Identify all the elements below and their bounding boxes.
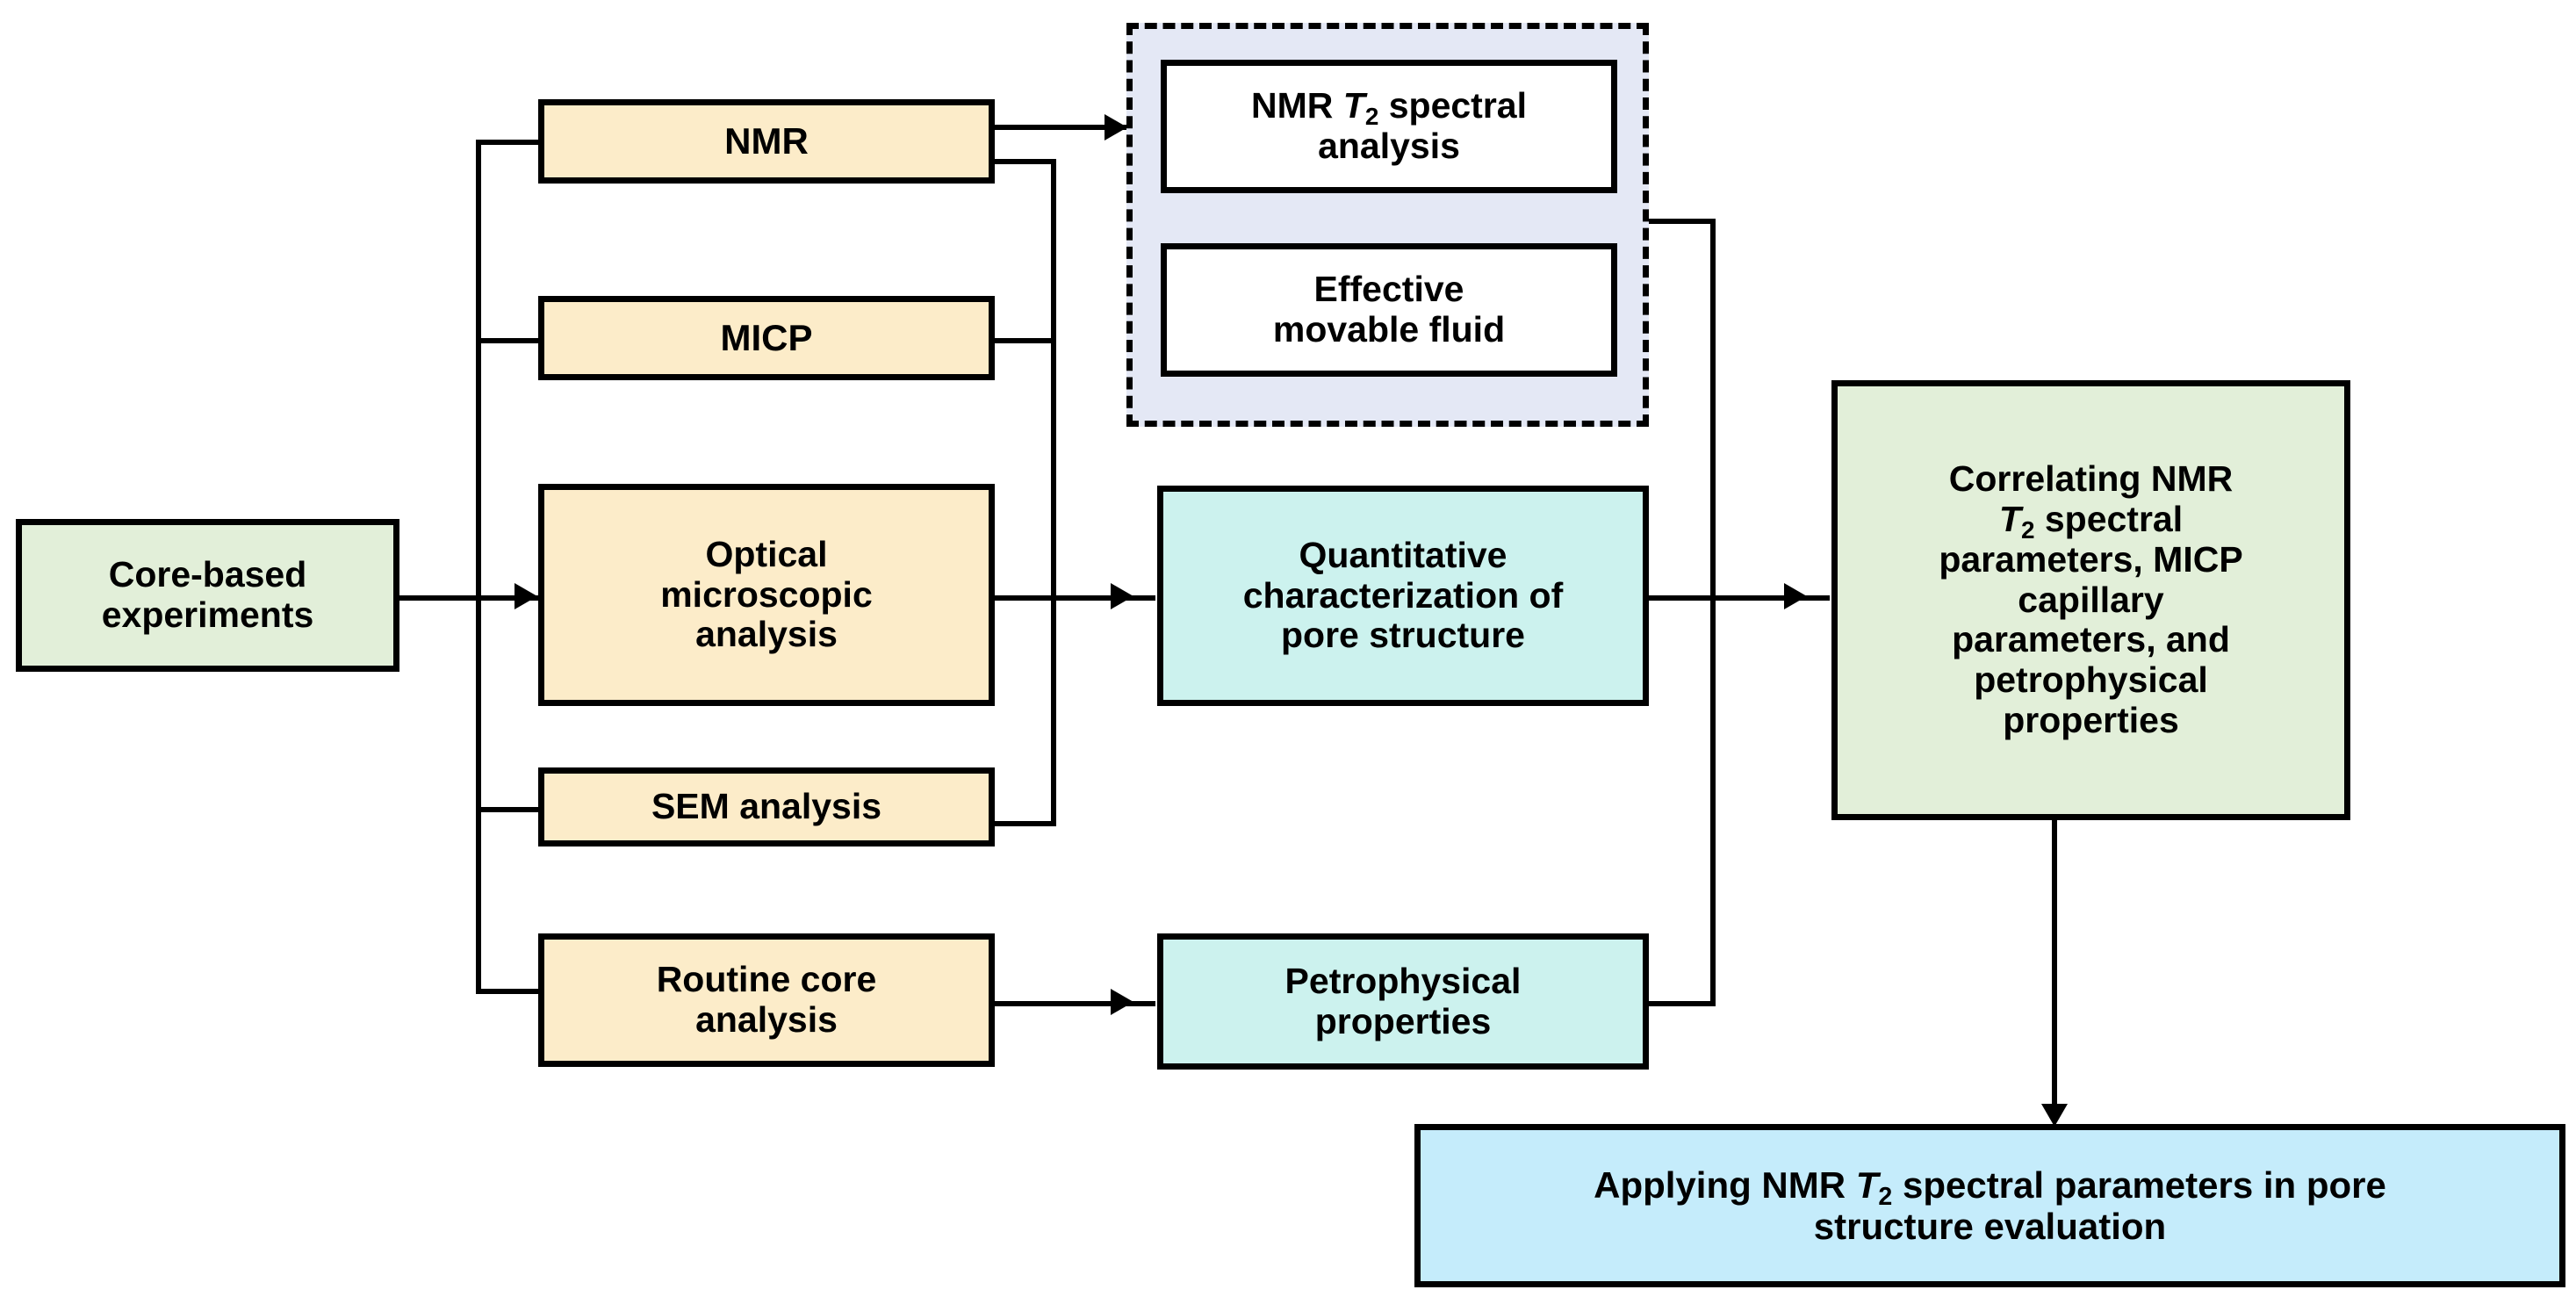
connector-bus-to-sem <box>476 807 544 812</box>
connector-correlating-to-applying <box>2052 820 2057 1114</box>
correlating-line4: capillary <box>2018 580 2163 620</box>
petrophysical-line1: Petrophysical <box>1285 961 1522 1001</box>
middle-collector-bus <box>1051 159 1056 826</box>
quantitative-line3: pore structure <box>1281 615 1525 655</box>
core-based-line1: Core-based <box>109 554 307 594</box>
t2-symbol: T <box>1343 85 1365 126</box>
connector-petrophysical-to-rightbus <box>1646 1001 1716 1006</box>
effective-line2: movable fluid <box>1273 309 1505 349</box>
node-quantitative-characterization[interactable]: Quantitative characterization of pore st… <box>1157 486 1649 706</box>
node-nmr[interactable]: NMR <box>538 99 995 184</box>
correlating-t2-symbol: T <box>1999 499 2021 539</box>
t2-line1-pre: NMR <box>1251 85 1343 126</box>
t2-subscript: 2 <box>1365 103 1379 130</box>
correlating-t2-subscript: 2 <box>2021 516 2035 544</box>
arrowhead-to-quantitative <box>1111 583 1133 609</box>
arrowhead-to-petrophysical <box>1111 989 1133 1015</box>
connector-quantitative-to-rightbus <box>1646 595 1716 601</box>
connector-nmr-to-middlebus <box>994 159 1054 164</box>
core-based-line2: experiments <box>102 594 314 635</box>
optical-line2: microscopic <box>660 574 873 615</box>
routine-line1: Routine core <box>657 959 877 999</box>
right-collector-bus <box>1710 219 1716 1006</box>
correlating-line6: petrophysical <box>1974 659 2208 700</box>
micp-label: MICP <box>551 317 982 358</box>
t2-line2: analysis <box>1318 126 1460 166</box>
correlating-line3: parameters, MICP <box>1939 539 2242 580</box>
connector-micp-to-middlebus <box>994 338 1054 343</box>
correlating-line7: properties <box>2003 700 2179 740</box>
optical-line1: Optical <box>706 534 828 574</box>
applying-t2-subscript: 2 <box>1878 1183 1892 1211</box>
node-petrophysical-properties[interactable]: Petrophysical properties <box>1157 933 1649 1070</box>
connector-rightbus-to-correlating <box>1710 595 1830 601</box>
connector-sem-to-middlebus <box>994 821 1054 826</box>
node-optical-microscopic-analysis[interactable]: Optical microscopic analysis <box>538 484 995 706</box>
node-micp[interactable]: MICP <box>538 296 995 380</box>
left-distribution-bus <box>476 140 481 994</box>
applying-line2: structure evaluation <box>1814 1206 2166 1247</box>
routine-line2: analysis <box>695 999 838 1040</box>
node-applying-nmr-t2-parameters[interactable]: Applying NMR T2 spectral parameters in p… <box>1414 1124 2565 1287</box>
connector-bus-to-nmr <box>476 140 544 145</box>
arrowhead-nmr-to-t2 <box>1105 114 1127 140</box>
quantitative-line2: characterization of <box>1243 575 1564 616</box>
nmr-label: NMR <box>551 120 982 162</box>
correlating-line2-post: spectral <box>2034 499 2183 539</box>
t2-line1-post: spectral <box>1378 85 1527 126</box>
node-correlating-parameters[interactable]: Correlating NMR T2 spectral parameters, … <box>1831 380 2350 820</box>
node-effective-movable-fluid[interactable]: Effective movable fluid <box>1161 243 1617 377</box>
correlating-line1: Correlating NMR <box>1949 458 2233 499</box>
quantitative-line1: Quantitative <box>1299 535 1507 575</box>
node-core-based-experiments[interactable]: Core-based experiments <box>16 519 399 672</box>
arrowhead-to-correlating <box>1784 583 1807 609</box>
applying-t2-symbol: T <box>1856 1164 1879 1206</box>
connector-bus-to-micp <box>476 338 544 343</box>
arrowhead-core-to-optical <box>514 583 537 609</box>
applying-line1-pre: Applying NMR <box>1594 1164 1856 1206</box>
node-routine-core-analysis[interactable]: Routine core analysis <box>538 933 995 1067</box>
effective-line1: Effective <box>1314 269 1464 309</box>
node-sem-analysis[interactable]: SEM analysis <box>538 767 995 847</box>
node-nmr-t2-spectral-analysis[interactable]: NMR T2 spectral analysis <box>1161 60 1617 193</box>
petrophysical-line2: properties <box>1315 1001 1492 1041</box>
applying-line1-post: spectral parameters in pore <box>1892 1164 2386 1206</box>
sem-label: SEM analysis <box>551 787 982 827</box>
correlating-line5: parameters, and <box>1952 619 2230 659</box>
optical-line3: analysis <box>695 614 838 654</box>
connector-group-to-rightbus <box>1646 219 1716 224</box>
connector-bus-to-routine <box>476 989 544 994</box>
flowchart-canvas: Core-based experiments NMR MICP Optical … <box>0 0 2576 1304</box>
